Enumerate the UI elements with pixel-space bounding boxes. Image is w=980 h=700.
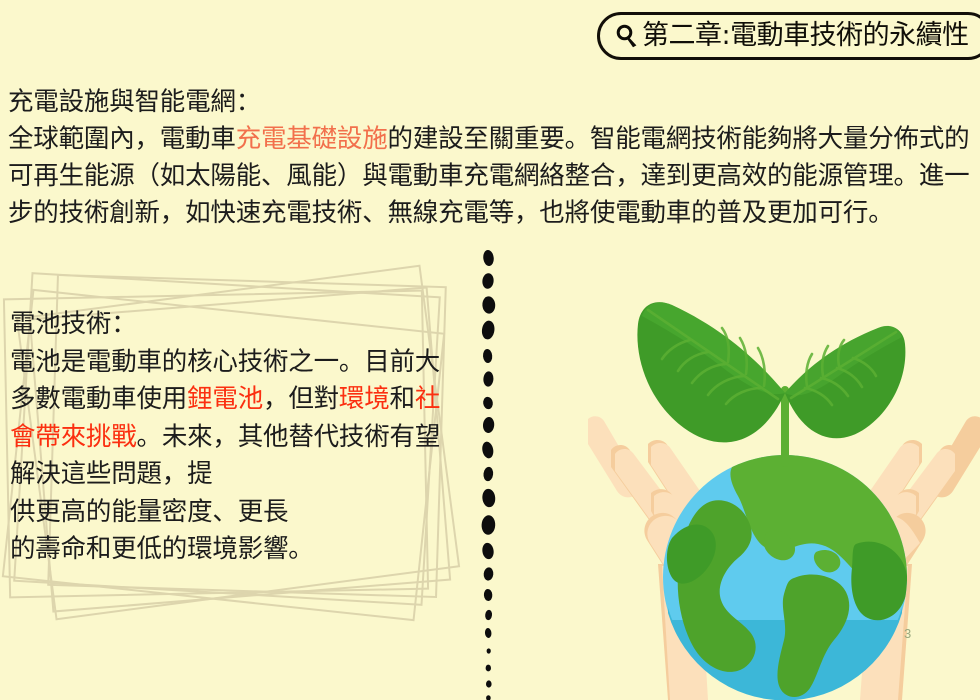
paragraph-top-heading: 充電設施與智能電網： (8, 84, 980, 121)
paragraph-top-body: 全球範圍內，電動車充電基礎設施的建設至關重要。智能電網技術能夠將大量分佈式的可再… (8, 121, 980, 232)
paragraph-bottom-heading: 電池技術： (10, 306, 450, 344)
text-segment-highlight: 環境 (339, 384, 390, 414)
text-segment: ，但對 (263, 384, 339, 414)
paragraph-charging-infrastructure: 充電設施與智能電網： 全球範圍內，電動車充電基礎設施的建設至關重要。智能電網技術… (8, 84, 980, 232)
search-icon (614, 23, 640, 49)
dotted-vertical-divider (466, 248, 510, 700)
hands-holding-earth-illustration (588, 248, 980, 700)
paragraph-bottom-line-extra-2: 的壽命和更低的環境影響。 (10, 531, 450, 569)
text-segment: 和 (390, 384, 415, 414)
paragraph-battery-technology: 電池技術： 電池是電動車的核心技術之一。目前大多數電動車使用鋰電池，但對環境和社… (10, 306, 450, 569)
paragraph-bottom-line-extra-1: 供更高的能量密度、更長 (10, 494, 450, 532)
paragraph-bottom-body: 電池是電動車的核心技術之一。目前大多數電動車使用鋰電池，但對環境和社會帶來挑戰。… (10, 344, 450, 494)
text-segment-highlight: 鋰電池 (187, 384, 263, 414)
chapter-title-text: 第二章:電動車技術的永續性 (642, 21, 969, 51)
chapter-title-badge[interactable]: 第二章:電動車技術的永續性 (597, 12, 980, 60)
page-number: 3 (904, 626, 911, 641)
text-segment-highlight: 充電基礎設施 (236, 124, 388, 154)
slide-canvas: 第二章:電動車技術的永續性 充電設施與智能電網： 全球範圍內，電動車充電基礎設施… (0, 0, 980, 700)
text-segment: 全球範圍內，電動車 (8, 124, 236, 154)
sprout-leaf-right (785, 326, 905, 438)
sprout-leaf-left (637, 302, 785, 442)
